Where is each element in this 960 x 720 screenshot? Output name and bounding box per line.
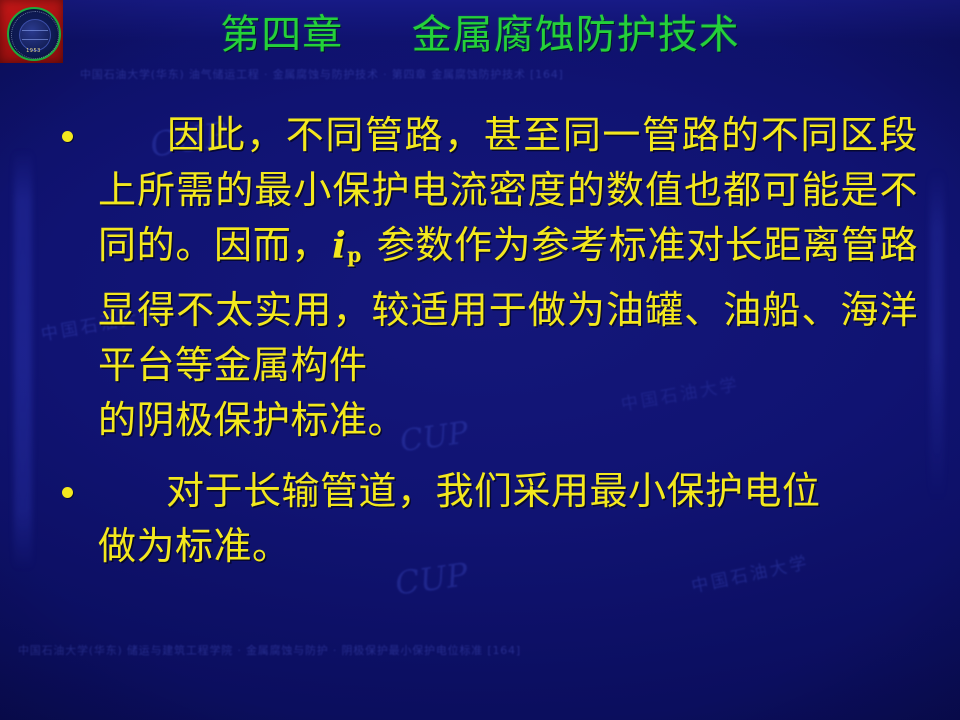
slide-body: 因此，不同管路，甚至同一管路的不同区段上所需的最小保护电流密度的数值也都可能是不… <box>46 108 918 574</box>
bullet-paragraph-2: 对于长输管道，我们采用最小保护电位 做为标准。 <box>46 464 918 574</box>
paragraph-1-last-line: 的阴极保护标准。 <box>98 393 918 448</box>
bullet-paragraph-1: 因此，不同管路，甚至同一管路的不同区段上所需的最小保护电流密度的数值也都可能是不… <box>46 108 918 448</box>
presentation-slide: 中国石油大学(华东) 油气储运工程 · 金属腐蚀与防护技术 · 第四章 金属腐蚀… <box>0 0 960 720</box>
navigation-toolbar: 上页 下页 返回 回主目录 2020/6/30 164 <box>0 654 960 720</box>
ip-symbol-subscript: p <box>346 243 362 267</box>
paragraph-2-last-line: 做为标准。 <box>98 519 918 574</box>
bullet-marker <box>62 487 73 498</box>
ip-symbol-base: i <box>332 225 346 267</box>
paragraph-2-text-part-1: 对于长输管道，我们采用最小保护电位 <box>166 469 821 513</box>
page-title: 第四章 金属腐蚀防护技术 <box>0 12 960 58</box>
paragraph-1-text-part-4: 参数作为参考 <box>364 223 609 267</box>
paragraph-1-text-part-1: 因此，不同管路，甚至同一管路的不 <box>166 113 800 157</box>
ip-symbol: ip <box>330 225 364 267</box>
bullet-marker <box>62 131 73 142</box>
